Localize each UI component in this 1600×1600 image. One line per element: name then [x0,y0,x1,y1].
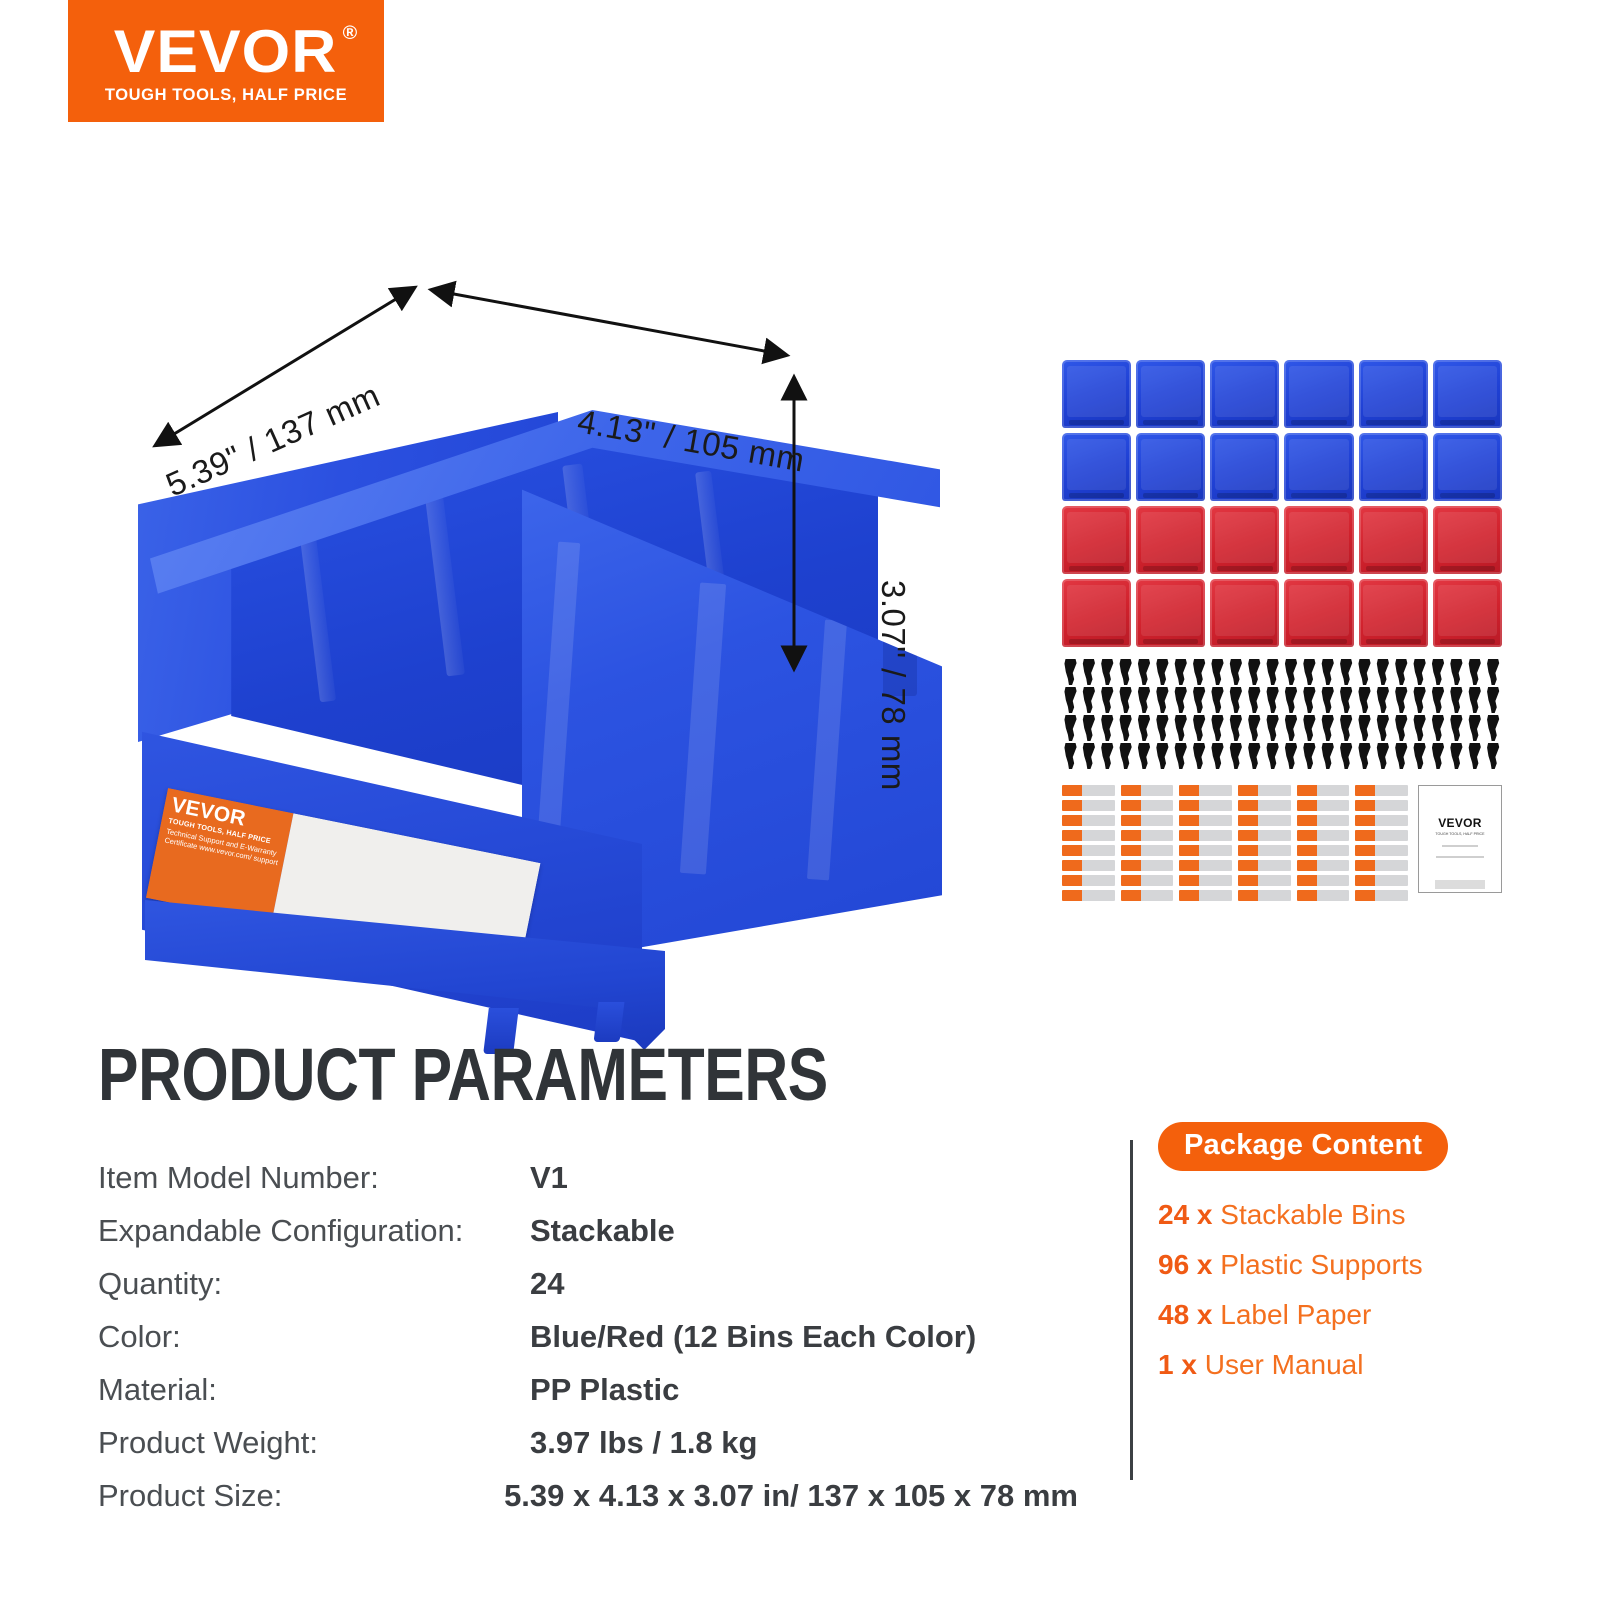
label-paper [1238,875,1291,886]
label-paper [1297,845,1350,856]
plastic-support [1448,743,1465,769]
label-paper [1297,860,1350,871]
mini-bin-red [1359,506,1428,574]
package-item-label: Stackable Bins [1213,1199,1406,1230]
mini-bin-red [1210,579,1279,647]
package-item-quantity: 24 x [1158,1199,1213,1230]
plastic-support [1374,715,1391,741]
plastic-support [1246,687,1263,713]
label-paper-brand [1179,875,1199,886]
parameter-value: 24 [530,1266,564,1302]
label-paper-brand [1355,830,1375,841]
plastic-support [1393,715,1410,741]
plastic-support [1319,743,1336,769]
label-paper [1355,830,1408,841]
plastic-support [1172,687,1189,713]
label-paper-write-area [1082,830,1115,841]
mini-bin-red [1136,506,1205,574]
plastic-support [1264,659,1281,685]
label-paper-brand [1179,890,1199,901]
plastic-support [1393,687,1410,713]
label-paper-brand [1179,800,1199,811]
label-paper [1121,785,1174,796]
label-paper-write-area [1258,830,1291,841]
plastic-support [1117,687,1134,713]
parameter-value: 5.39 x 4.13 x 3.07 in/ 137 x 105 x 78 mm [504,1478,1078,1514]
plastic-support [1246,659,1263,685]
plastic-support [1283,715,1300,741]
plastic-support [1191,687,1208,713]
plastic-support [1117,743,1134,769]
plastic-support [1283,659,1300,685]
manual-tagline: TOUGH TOOLS, HALF PRICE [1435,832,1484,836]
label-paper-write-area [1082,785,1115,796]
package-item-label: Plastic Supports [1213,1249,1423,1280]
label-paper-brand [1238,845,1258,856]
plastic-support [1209,659,1226,685]
dimension-height-label: 3.07" / 78 mm [874,580,912,791]
package-content-item: 96 x Plastic Supports [1158,1249,1578,1281]
label-paper-write-area [1199,830,1232,841]
label-paper [1238,845,1291,856]
plastic-support [1209,715,1226,741]
plastic-support [1209,743,1226,769]
label-paper-write-area [1199,785,1232,796]
label-paper-write-area [1082,860,1115,871]
label-paper [1179,845,1232,856]
label-paper [1062,860,1115,871]
label-paper-write-area [1199,800,1232,811]
package-item-label: User Manual [1197,1349,1364,1380]
manual-barcode [1435,880,1486,889]
label-paper-brand [1179,845,1199,856]
mini-bin-blue [1062,360,1131,428]
package-item-quantity: 1 x [1158,1349,1197,1380]
label-paper-brand [1238,860,1258,871]
parameters-table: Item Model Number:V1Expandable Configura… [98,1160,1078,1531]
mini-bin-blue [1284,433,1353,501]
label-paper-brand [1238,815,1258,826]
mini-bin-blue [1359,433,1428,501]
label-paper-write-area [1317,890,1350,901]
label-paper [1179,860,1232,871]
label-paper [1121,875,1174,886]
plastic-support [1099,687,1116,713]
label-paper-write-area [1258,890,1291,901]
parameter-value: PP Plastic [530,1372,679,1408]
plastic-support [1136,743,1153,769]
label-paper-brand [1062,860,1082,871]
label-paper-brand [1297,890,1317,901]
plastic-support [1099,659,1116,685]
label-paper-write-area [1317,830,1350,841]
parameter-value: Blue/Red (12 Bins Each Color) [530,1319,976,1355]
plastic-support [1411,743,1428,769]
label-paper-brand [1121,845,1141,856]
plastic-support [1136,687,1153,713]
label-paper-brand [1297,845,1317,856]
plastic-support [1411,715,1428,741]
label-paper-write-area [1375,890,1408,901]
plastic-support [1301,687,1318,713]
label-paper [1355,815,1408,826]
plastic-support [1338,687,1355,713]
label-paper [1062,800,1115,811]
label-paper [1238,860,1291,871]
plastic-support [1080,659,1097,685]
label-paper-write-area [1141,800,1174,811]
label-paper-write-area [1199,815,1232,826]
plastic-support [1338,715,1355,741]
parameter-value: 3.97 lbs / 1.8 kg [530,1425,757,1461]
parameter-key: Material: [98,1372,530,1408]
mini-bin-blue [1136,433,1205,501]
label-paper-brand [1238,785,1258,796]
plastic-supports-grid [1062,659,1502,769]
label-paper [1179,800,1232,811]
parameter-key: Quantity: [98,1266,530,1302]
label-paper-write-area [1141,830,1174,841]
label-paper-brand [1121,800,1141,811]
page-title: PRODUCT PARAMETERS [98,1032,828,1117]
label-paper [1062,830,1115,841]
label-paper-write-area [1258,875,1291,886]
label-paper [1062,785,1115,796]
manual-rule [1442,845,1478,847]
plastic-support [1301,715,1318,741]
label-paper-brand [1179,830,1199,841]
parameter-key: Color: [98,1319,530,1355]
brand-name: VEVOR [114,18,338,85]
package-content-item: 24 x Stackable Bins [1158,1199,1578,1231]
package-content-list: 24 x Stackable Bins96 x Plastic Supports… [1158,1199,1578,1381]
label-paper-brand [1297,860,1317,871]
plastic-support [1227,687,1244,713]
label-paper-brand [1121,830,1141,841]
label-paper-write-area [1317,860,1350,871]
label-paper-brand [1355,890,1375,901]
plastic-support [1374,687,1391,713]
package-item-quantity: 48 x [1158,1299,1213,1330]
label-paper [1238,815,1291,826]
label-paper-brand [1355,845,1375,856]
manual-logo: VEVOR [1438,816,1482,830]
papers-and-manual: VEVOR TOUGH TOOLS, HALF PRICE [1062,785,1502,901]
label-paper-brand [1355,875,1375,886]
plastic-support [1154,659,1171,685]
label-paper-brand [1121,815,1141,826]
label-paper [1355,845,1408,856]
mini-bin-blue [1136,360,1205,428]
plastic-support [1485,687,1502,713]
label-paper-brand [1297,800,1317,811]
user-manual: VEVOR TOUGH TOOLS, HALF PRICE [1418,785,1502,893]
plastic-support [1117,715,1134,741]
label-paper-brand [1238,830,1258,841]
plastic-support [1283,687,1300,713]
plastic-support [1356,743,1373,769]
mini-bin-blue [1433,360,1502,428]
plastic-support [1374,743,1391,769]
label-paper-write-area [1082,875,1115,886]
label-paper [1297,800,1350,811]
package-content-badge: Package Content [1158,1122,1448,1171]
mini-bin-blue [1210,433,1279,501]
plastic-support [1466,743,1483,769]
plastic-support [1172,659,1189,685]
mini-bin-red [1062,506,1131,574]
brand-wordmark: VEVOR ® [114,23,338,80]
parameter-row: Product Weight:3.97 lbs / 1.8 kg [98,1425,1078,1478]
plastic-support [1136,715,1153,741]
mini-bin-red [1433,579,1502,647]
label-paper-brand [1297,830,1317,841]
mini-bin-blue [1062,433,1131,501]
plastic-support [1430,743,1447,769]
label-paper-write-area [1375,830,1408,841]
mini-bin-red [1136,579,1205,647]
label-paper-brand [1062,800,1082,811]
label-paper-write-area [1141,890,1174,901]
plastic-support [1246,743,1263,769]
plastic-support [1062,743,1079,769]
plastic-support [1356,715,1373,741]
plastic-support [1080,687,1097,713]
plastic-support [1172,715,1189,741]
label-paper [1297,785,1350,796]
storage-bin-illustration: VEVOR TOUGH TOOLS, HALF PRICE Technical … [120,260,920,1020]
label-paper [1238,830,1291,841]
label-paper [1062,815,1115,826]
label-paper-brand [1355,815,1375,826]
label-paper-brand [1355,860,1375,871]
plastic-support [1393,743,1410,769]
label-paper-write-area [1375,860,1408,871]
label-paper-write-area [1317,815,1350,826]
mini-bin-blue [1210,360,1279,428]
plastic-support [1264,743,1281,769]
plastic-support [1374,659,1391,685]
label-paper [1121,815,1174,826]
label-paper-brand [1355,800,1375,811]
label-papers-grid [1062,785,1408,901]
label-paper-brand [1062,890,1082,901]
package-content-item: 48 x Label Paper [1158,1299,1578,1331]
parameter-key: Product Weight: [98,1425,530,1461]
label-paper-brand [1062,785,1082,796]
label-paper-write-area [1375,815,1408,826]
plastic-support [1154,715,1171,741]
plastic-support [1301,659,1318,685]
plastic-support [1485,743,1502,769]
label-paper-write-area [1082,815,1115,826]
mini-bin-blue [1359,360,1428,428]
label-paper [1121,860,1174,871]
parameter-row: Expandable Configuration:Stackable [98,1213,1078,1266]
plastic-support [1099,715,1116,741]
plastic-support [1466,659,1483,685]
label-paper [1121,845,1174,856]
plastic-support [1227,715,1244,741]
plastic-support [1099,743,1116,769]
plastic-support [1062,659,1079,685]
label-paper [1238,800,1291,811]
mini-bin-red [1433,506,1502,574]
mini-bin-red [1210,506,1279,574]
label-paper [1297,875,1350,886]
label-paper [1355,860,1408,871]
plastic-support [1154,687,1171,713]
plastic-support [1430,687,1447,713]
label-paper-write-area [1258,860,1291,871]
plastic-support [1209,687,1226,713]
plastic-support [1485,715,1502,741]
label-paper-write-area [1082,845,1115,856]
mini-bin-blue [1284,360,1353,428]
label-paper [1297,815,1350,826]
label-paper-write-area [1375,845,1408,856]
label-paper-write-area [1317,845,1350,856]
parameter-key: Expandable Configuration: [98,1213,530,1249]
brand-tagline: TOUGH TOOLS, HALF PRICE [105,86,347,105]
label-paper [1355,785,1408,796]
label-paper-write-area [1317,800,1350,811]
plastic-support [1411,659,1428,685]
plastic-support [1264,687,1281,713]
label-paper-brand [1238,890,1258,901]
parameter-row: Product Size:5.39 x 4.13 x 3.07 in/ 137 … [98,1478,1078,1531]
plastic-support [1283,743,1300,769]
label-paper-brand [1121,875,1141,886]
plastic-support [1080,743,1097,769]
label-paper-brand [1062,815,1082,826]
plastic-support [1356,687,1373,713]
parameter-key: Item Model Number: [98,1160,530,1196]
plastic-support [1448,687,1465,713]
label-paper-write-area [1082,800,1115,811]
label-paper-write-area [1258,785,1291,796]
plastic-support [1356,659,1373,685]
label-paper [1179,815,1232,826]
package-item-quantity: 96 x [1158,1249,1213,1280]
label-paper [1297,890,1350,901]
label-paper-brand [1121,785,1141,796]
plastic-support [1466,715,1483,741]
plastic-support [1191,715,1208,741]
label-paper-brand [1297,815,1317,826]
label-paper [1355,890,1408,901]
mini-bin-red [1062,579,1131,647]
plastic-support [1485,659,1502,685]
parameter-row: Material:PP Plastic [98,1372,1078,1425]
plastic-support [1338,659,1355,685]
plastic-support [1062,715,1079,741]
mini-bins-grid [1062,360,1502,647]
label-paper-brand [1062,845,1082,856]
mini-bin-red [1359,579,1428,647]
label-paper-brand [1238,875,1258,886]
plastic-support [1172,743,1189,769]
label-paper [1179,785,1232,796]
plastic-support [1466,687,1483,713]
label-paper-brand [1179,815,1199,826]
label-paper [1238,785,1291,796]
label-paper-brand [1179,785,1199,796]
label-paper-write-area [1317,875,1350,886]
label-paper [1355,800,1408,811]
label-paper-write-area [1258,800,1291,811]
label-paper-write-area [1199,860,1232,871]
label-paper-write-area [1258,845,1291,856]
manual-rule [1436,856,1484,858]
label-paper [1121,800,1174,811]
package-item-label: Label Paper [1213,1299,1372,1330]
section-divider [1130,1140,1133,1480]
label-paper-write-area [1375,800,1408,811]
label-paper-brand [1355,785,1375,796]
label-paper [1355,875,1408,886]
package-content-panel: Package Content 24 x Stackable Bins96 x … [1158,1122,1578,1399]
plastic-support [1448,659,1465,685]
registered-trademark-icon: ® [343,25,359,43]
plastic-support [1411,687,1428,713]
plastic-support [1191,743,1208,769]
label-paper [1062,875,1115,886]
product-spec-page: VEVOR ® TOUGH TOOLS, HALF PRICE [0,0,1600,1600]
label-paper-write-area [1199,845,1232,856]
parameter-row: Quantity:24 [98,1266,1078,1319]
label-paper-brand [1062,830,1082,841]
label-paper-brand [1238,800,1258,811]
label-paper-write-area [1375,875,1408,886]
label-paper-write-area [1141,785,1174,796]
parameter-value: V1 [530,1160,568,1196]
parameter-value: Stackable [530,1213,675,1249]
plastic-support [1301,743,1318,769]
label-paper [1062,890,1115,901]
label-paper-write-area [1141,815,1174,826]
label-paper-write-area [1141,845,1174,856]
plastic-support [1227,659,1244,685]
label-paper-write-area [1141,860,1174,871]
plastic-support [1062,687,1079,713]
label-paper-write-area [1375,785,1408,796]
plastic-support [1319,715,1336,741]
mini-bin-blue [1433,433,1502,501]
plastic-support [1430,715,1447,741]
label-paper [1179,875,1232,886]
plastic-support [1227,743,1244,769]
label-paper-write-area [1317,785,1350,796]
label-paper-write-area [1199,890,1232,901]
label-paper [1179,890,1232,901]
package-contents-montage: VEVOR TOUGH TOOLS, HALF PRICE [1062,360,1502,880]
hero-product-image: VEVOR TOUGH TOOLS, HALF PRICE Technical … [0,150,1030,970]
label-paper [1121,890,1174,901]
parameter-row: Item Model Number:V1 [98,1160,1078,1213]
package-content-item: 1 x User Manual [1158,1349,1578,1381]
label-paper [1121,830,1174,841]
parameter-key: Product Size: [98,1478,504,1514]
label-paper-brand [1062,875,1082,886]
label-paper-brand [1179,860,1199,871]
label-paper-brand [1121,860,1141,871]
plastic-support [1430,659,1447,685]
label-paper-brand [1297,785,1317,796]
mini-bin-red [1284,506,1353,574]
plastic-support [1338,743,1355,769]
parameter-row: Color:Blue/Red (12 Bins Each Color) [98,1319,1078,1372]
